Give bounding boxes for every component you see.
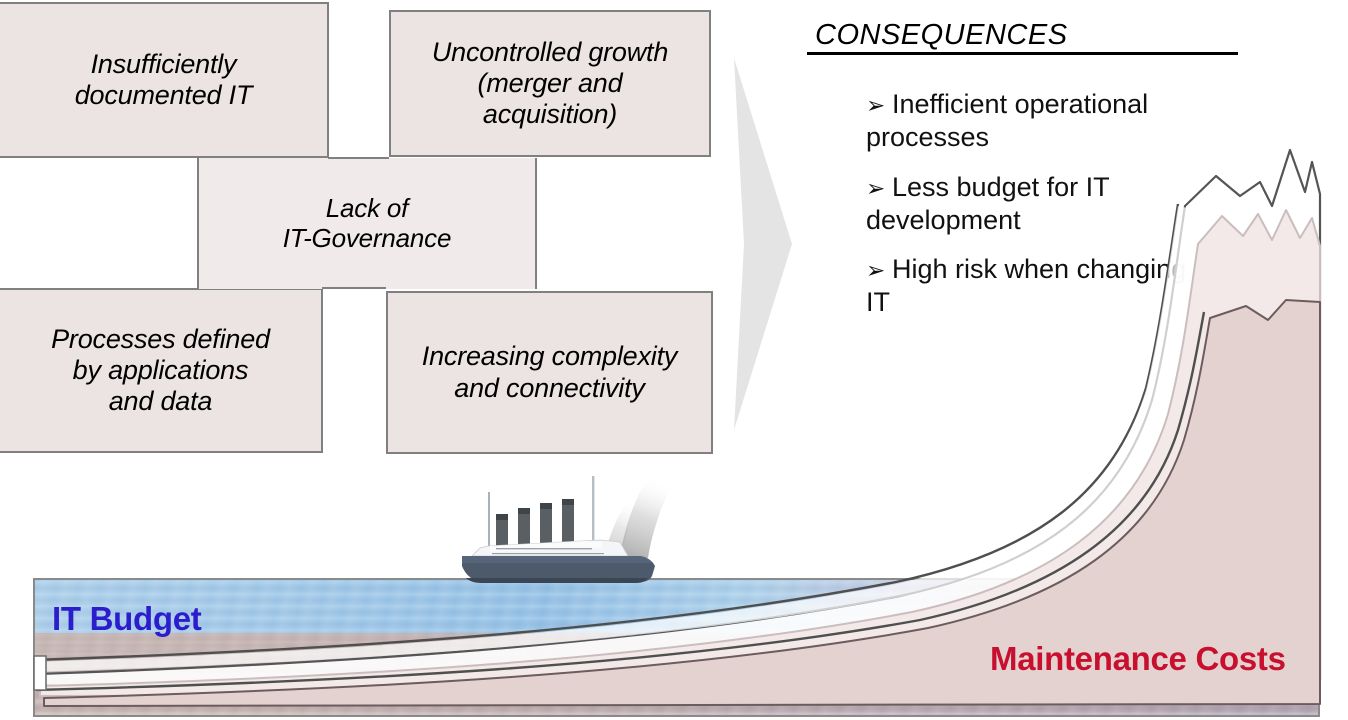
right-arrow-icon [730, 58, 792, 430]
it-budget-label: IT Budget [52, 600, 201, 638]
consequences-title: CONSEQUENCES [815, 19, 1068, 52]
arrow-bullet-icon: ➢ [866, 91, 892, 119]
diagram-box-center-label: Lack of IT-Governance [283, 194, 451, 254]
slide-canvas: Insufficiently documented IT Uncontrolle… [0, 0, 1348, 720]
consequences-underline [807, 52, 1238, 55]
diagram-box-bottom-left[interactable]: Processes defined by applications and da… [0, 288, 323, 453]
center-border-bot-a [322, 287, 386, 289]
diagram-box-bottom-right[interactable]: Increasing complexity and connectivity [386, 291, 713, 454]
diagram-box-top-left[interactable]: Insufficiently documented IT [0, 2, 329, 158]
center-border-right [535, 158, 537, 289]
diagram-box-top-right[interactable]: Uncontrolled growth (merger and acquisit… [389, 10, 711, 157]
ocean-liner-icon [452, 470, 710, 586]
maintenance-costs-label: Maintenance Costs [990, 640, 1286, 678]
consequence-item-3: ➢High risk when changing IT [866, 253, 1196, 319]
consequence-item-1: ➢Inefficient operational processes [866, 88, 1196, 154]
diagram-box-bottom-left-label: Processes defined by applications and da… [51, 324, 270, 417]
consequence-item-1-label: Inefficient operational processes [866, 89, 1148, 152]
diagram-box-center[interactable]: Lack of IT-Governance [197, 158, 537, 289]
arrow-bullet-icon: ➢ [866, 256, 892, 284]
diagram-box-top-left-label: Insufficiently documented IT [75, 49, 253, 111]
center-border-left [197, 158, 199, 289]
arrow-bullet-icon: ➢ [866, 174, 892, 202]
consequence-item-2-label: Less budget for IT development [866, 172, 1109, 235]
diagram-box-top-right-label: Uncontrolled growth (merger and acquisit… [432, 37, 668, 130]
center-border-top-a [328, 157, 389, 159]
diagram-box-bottom-right-label: Increasing complexity and connectivity [422, 341, 677, 403]
consequence-item-3-label: High risk when changing IT [866, 254, 1186, 317]
consequence-item-2: ➢Less budget for IT development [866, 171, 1196, 237]
